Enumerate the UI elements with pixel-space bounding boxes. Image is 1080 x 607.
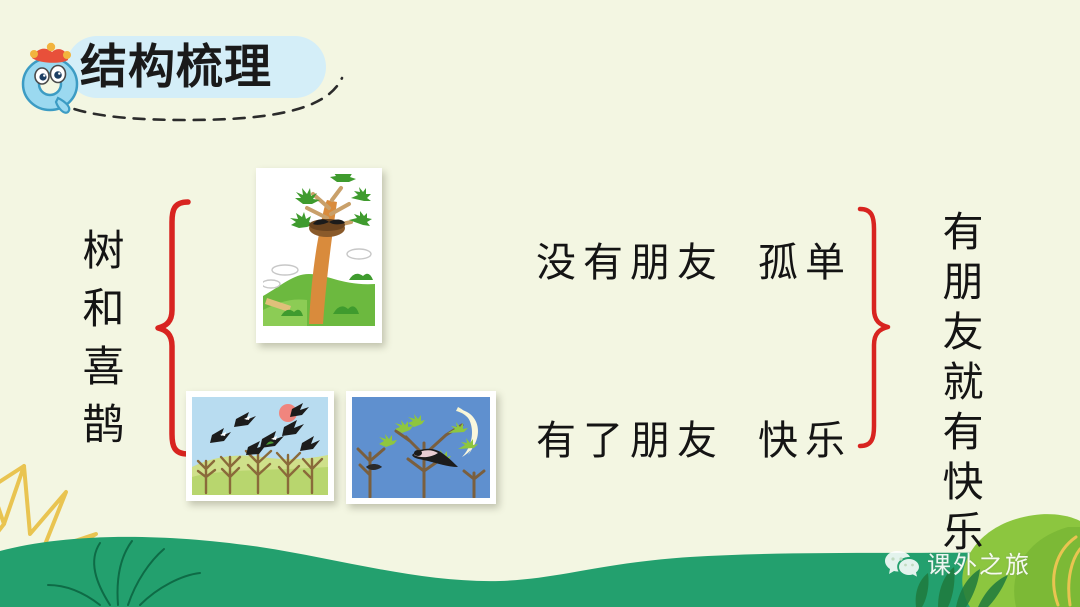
right-brace xyxy=(856,205,904,450)
photo-lone-tree xyxy=(256,168,382,343)
phrase-row-2: 有了朋友 快乐 xyxy=(536,408,852,466)
phrase-row-1: 没有朋友 孤单 xyxy=(536,230,852,288)
grass-outline-decoration xyxy=(40,527,270,607)
page-title: 结构梳理 xyxy=(80,37,272,97)
photo-night-tree xyxy=(346,391,496,504)
wechat-icon xyxy=(885,549,919,577)
q-mascot-icon xyxy=(18,40,86,114)
photo-magpie-flock xyxy=(186,391,334,501)
title-block: 结构梳理 xyxy=(8,16,358,126)
conclusion-label: 有朋友就有快乐 xyxy=(938,210,979,560)
leaf-decoration-left xyxy=(0,448,150,598)
slide-canvas: 结构梳理 树和喜鹊 xyxy=(0,0,1080,607)
watermark-label: 课外之旅 xyxy=(927,545,1031,580)
subject-label: 树和喜鹊 xyxy=(78,228,120,460)
watermark: 课外之旅 xyxy=(885,545,1031,580)
